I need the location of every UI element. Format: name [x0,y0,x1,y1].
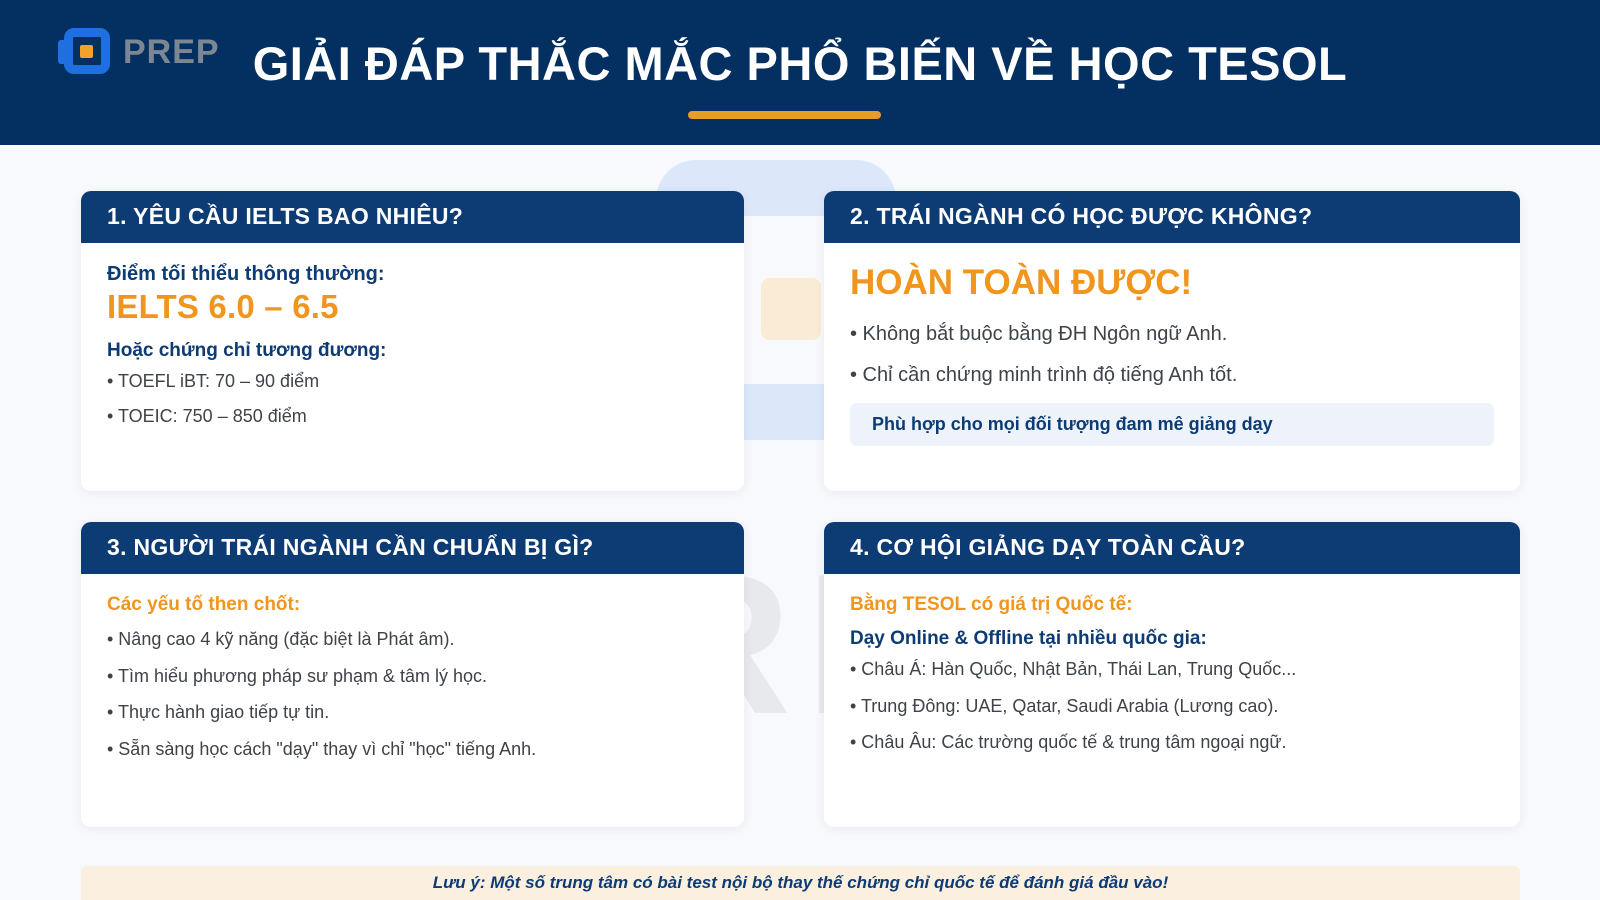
card-2-callout-box: Phù hợp cho mọi đối tượng đam mê giảng d… [850,403,1494,446]
card-4-label-teach-modes: Dạy Online & Offline tại nhiều quốc gia: [850,628,1494,650]
title-underline [688,111,881,119]
card-4-bullet-middle-east: • Trung Đông: UAE, Qatar, Saudi Arabia (… [850,695,1494,718]
card-3-body: Các yếu tố then chốt: • Nâng cao 4 kỹ nă… [81,574,744,784]
card-1-bullet-toefl: • TOEFL iBT: 70 – 90 điểm [107,370,718,393]
card-1-ielts-range: IELTS 6.0 – 6.5 [107,288,718,326]
card-1-body: Điểm tối thiểu thông thường: IELTS 6.0 –… [81,243,744,449]
page-title: GIẢI ĐÁP THẮC MẮC PHỔ BIẾN VỀ HỌC TESOL [0,36,1600,91]
watermark-logo-inner-square [761,278,821,340]
card-4-header: 4. CƠ HỘI GIẢNG DẠY TOÀN CẦU? [824,522,1520,574]
card-3-bullet-pedagogy: • Tìm hiểu phương pháp sư phạm & tâm lý … [107,665,718,688]
card-3-bullet-skills: • Nâng cao 4 kỹ năng (đặc biệt là Phát â… [107,628,718,651]
faq-card-4: 4. CƠ HỘI GIẢNG DẠY TOÀN CẦU? Bằng TESOL… [824,522,1520,827]
page-banner: PREP GIẢI ĐÁP THẮC MẮC PHỔ BIẾN VỀ HỌC T… [0,0,1600,145]
card-1-label-minimum-score: Điểm tối thiểu thông thường: [107,263,718,286]
card-3-bullet-teaching-mindset: • Sẵn sàng học cách "dạy" thay vì chỉ "h… [107,738,718,761]
card-3-header: 3. NGƯỜI TRÁI NGÀNH CẦN CHUẨN BỊ GÌ? [81,522,744,574]
card-2-bullet-proficiency: • Chỉ cần chứng minh trình độ tiếng Anh … [850,362,1494,388]
card-4-label-international-value: Bằng TESOL có giá trị Quốc tế: [850,594,1494,616]
footer-note-text: Lưu ý: Một số trung tâm có bài test nội … [433,873,1168,893]
card-2-header: 2. TRÁI NGÀNH CÓ HỌC ĐƯỢC KHÔNG? [824,191,1520,243]
card-4-bullet-asia: • Châu Á: Hàn Quốc, Nhật Bản, Thái Lan, … [850,658,1494,681]
card-2-body: HOÀN TOÀN ĐƯỢC! • Không bắt buộc bằng ĐH… [824,243,1520,456]
card-1-bullet-toeic: • TOEIC: 750 – 850 điểm [107,405,718,428]
card-4-body: Bằng TESOL có giá trị Quốc tế: Dạy Onlin… [824,574,1520,778]
card-4-bullet-europe: • Châu Âu: Các trường quốc tế & trung tâ… [850,731,1494,754]
card-1-label-equivalent: Hoặc chứng chỉ tương đương: [107,340,718,362]
faq-card-3: 3. NGƯỜI TRÁI NGÀNH CẦN CHUẨN BỊ GÌ? Các… [81,522,744,827]
footer-note-bar: Lưu ý: Một số trung tâm có bài test nội … [81,866,1520,900]
card-2-callout-text: Phù hợp cho mọi đối tượng đam mê giảng d… [872,414,1472,435]
card-3-bullet-communication: • Thực hành giao tiếp tự tin. [107,701,718,724]
faq-card-1: 1. YÊU CẦU IELTS BAO NHIÊU? Điểm tối thi… [81,191,744,491]
faq-card-2: 2. TRÁI NGÀNH CÓ HỌC ĐƯỢC KHÔNG? HOÀN TO… [824,191,1520,491]
card-3-label-key-factors: Các yếu tố then chốt: [107,594,718,616]
card-2-bullet-degree: • Không bắt buộc bằng ĐH Ngôn ngữ Anh. [850,321,1494,347]
card-1-header: 1. YÊU CẦU IELTS BAO NHIÊU? [81,191,744,243]
card-2-answer-highlight: HOÀN TOÀN ĐƯỢC! [850,263,1494,303]
